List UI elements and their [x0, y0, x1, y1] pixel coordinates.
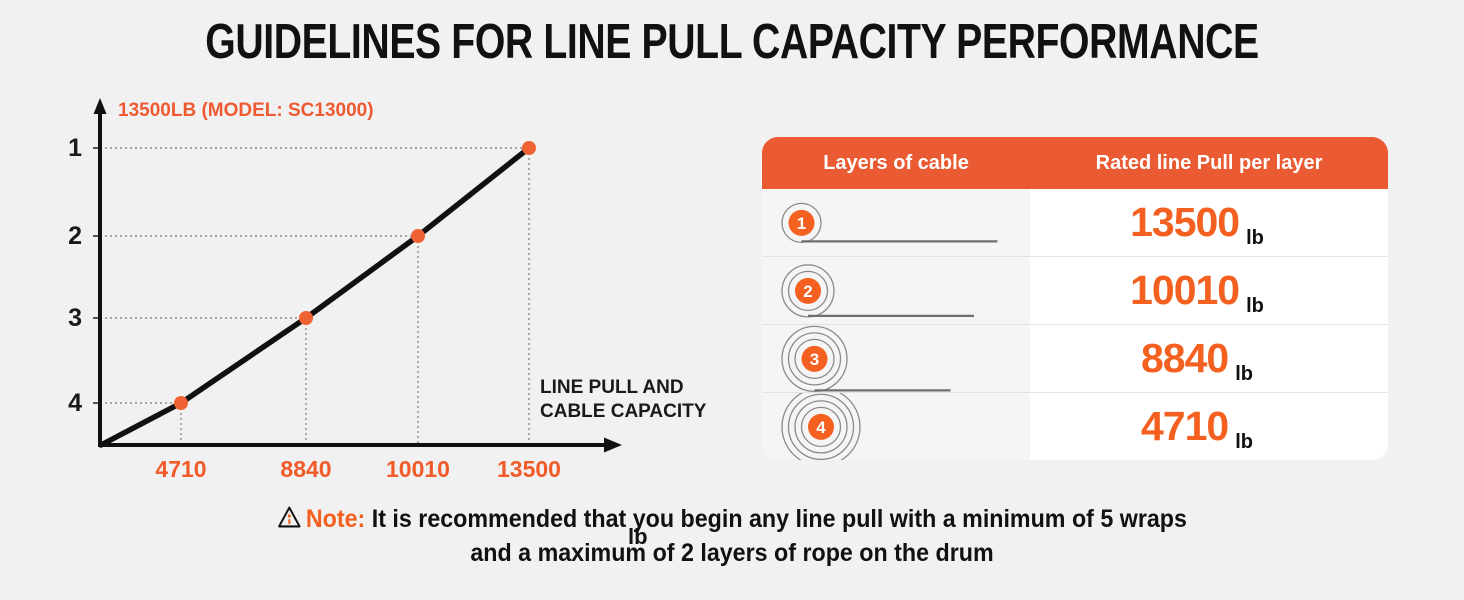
data-point-10010 [411, 229, 425, 243]
table-body: 113500lb210010lb38840lb44710lb [762, 189, 1388, 460]
layers-cell: 1 [762, 189, 1030, 256]
note-text-line2: and a maximum of 2 layers of rope on the… [51, 537, 1413, 571]
rated-pull-unit: lb [1246, 227, 1264, 256]
rated-pull-cell: 4710lb [1030, 393, 1388, 460]
note-text-line1: It is recommended that you begin any lin… [365, 505, 1187, 533]
y-tick-label-3: 3 [52, 304, 82, 333]
data-point-8840 [299, 311, 313, 325]
layer-number: 1 [797, 214, 806, 233]
y-axis-arrow [94, 98, 107, 114]
note-banner: Note: It is recommended that you begin a… [51, 503, 1413, 571]
cable-coil-icon-3: 3 [778, 325, 1038, 393]
table-row: 44710lb [762, 392, 1388, 460]
table-header-rated: Rated line Pull per layer [1030, 137, 1388, 189]
table-row: 210010lb [762, 256, 1388, 324]
rated-pull-cell: 10010lb [1030, 257, 1388, 324]
y-tick-label-2: 2 [52, 222, 82, 251]
table-row: 38840lb [762, 324, 1388, 392]
warning-triangle-icon [277, 504, 301, 530]
line-pull-chart: 13500LB (MODEL: SC13000) 1 2 3 4 4710 88… [0, 88, 720, 488]
chart-model-label: 13500LB (MODEL: SC13000) [118, 100, 374, 122]
layer-number: 3 [810, 350, 819, 369]
page-title: GUIDELINES FOR LINE PULL CAPACITY PERFOR… [146, 14, 1317, 70]
rated-pull-table: Layers of cable Rated line Pull per laye… [762, 137, 1388, 460]
layers-cell: 3 [762, 325, 1030, 392]
rated-pull-value: 10010 [1130, 267, 1239, 314]
note-line-1: Note: It is recommended that you begin a… [277, 505, 1187, 533]
data-point-13500 [522, 141, 536, 155]
rated-pull-cell: 8840lb [1030, 325, 1388, 392]
chart-line [101, 148, 529, 445]
x-axis-caption: LINE PULL AND CABLE CAPACITY [540, 376, 730, 425]
table-header-row: Layers of cable Rated line Pull per laye… [762, 137, 1388, 189]
table-header-layers: Layers of cable [762, 137, 1030, 189]
x-tick-label-4710: 4710 [121, 456, 241, 483]
y-tick-label-1: 1 [52, 134, 82, 163]
x-axis-caption-line1: LINE PULL AND [540, 376, 730, 400]
rated-pull-unit: lb [1235, 431, 1253, 460]
note-label: Note: [306, 505, 365, 533]
x-tick-label-8840: 8840 [246, 456, 366, 483]
rated-pull-value: 4710 [1141, 403, 1228, 450]
rated-pull-unit: lb [1235, 363, 1253, 392]
rated-pull-unit: lb [1246, 295, 1264, 324]
cable-coil-icon-2: 2 [778, 257, 1038, 325]
chart-gridlines [100, 148, 529, 445]
layer-number: 4 [816, 418, 826, 437]
x-axis-caption-line2: CABLE CAPACITY [540, 400, 730, 424]
table-row: 113500lb [762, 189, 1388, 256]
layers-cell: 4 [762, 393, 1030, 460]
rated-pull-cell: 13500lb [1030, 189, 1388, 256]
layers-cell: 2 [762, 257, 1030, 324]
y-tick-label-4: 4 [52, 389, 82, 418]
rated-pull-value: 13500 [1130, 199, 1239, 246]
rated-pull-value: 8840 [1141, 335, 1228, 382]
layer-number: 2 [803, 282, 812, 301]
data-point-4710 [174, 396, 188, 410]
x-tick-label-10010: 10010 [358, 456, 478, 483]
x-tick-label-13500: 13500 [469, 456, 589, 483]
chart-canvas [0, 88, 720, 488]
cable-coil-icon-1: 1 [778, 189, 1038, 257]
cable-coil-icon-4: 4 [778, 393, 1038, 460]
x-axis-arrow [604, 438, 622, 453]
